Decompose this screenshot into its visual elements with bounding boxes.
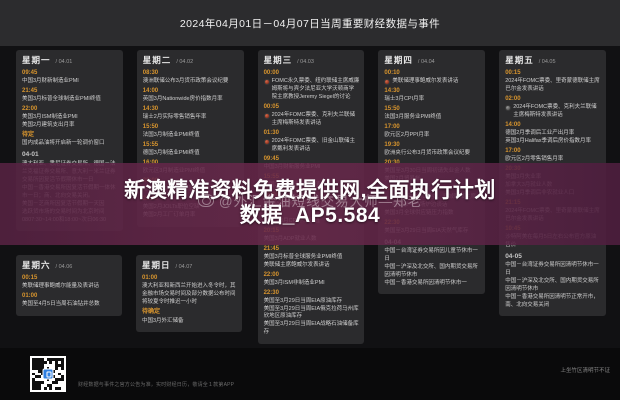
event-desc: 英国3月Nationwide房价指数月率 xyxy=(143,96,239,104)
event-time: 01:00 xyxy=(22,292,117,301)
event-desc: 瑞士3月CPI月率 xyxy=(384,96,480,104)
date-separator: 04-01 xyxy=(22,149,118,161)
event-desc: 瑞士2月实际零售销售年率 xyxy=(143,114,239,122)
event-desc: 美国3月ISM非制造业PMI xyxy=(264,280,360,288)
event-item: 01:00 澳大利亚和新西兰开始进入冬令时，其金融市场交易时间及部分数据公布时间… xyxy=(142,274,237,307)
event-time: 14:30 xyxy=(384,87,480,96)
event-time: 21:45 xyxy=(22,87,118,96)
event-time: 00:15 xyxy=(22,274,117,283)
event-time: 14:00 xyxy=(143,87,239,96)
event-time: 22:00 xyxy=(264,271,360,280)
page-title: 2024年04月01日－04月07日当周重要财经数据与事件 xyxy=(180,16,440,31)
event-desc: 美国3月ISM制造业PMI xyxy=(22,114,118,122)
event-desc: 美国至3月29日当周EIA原油库存 xyxy=(264,298,360,306)
event-desc: 中国3月外汇储备 xyxy=(142,318,237,326)
day-header: 星期日 / 04.07 xyxy=(142,259,237,271)
event-desc: 欧洲央行公布3月货币政策会议纪要 xyxy=(384,150,480,158)
event-time: 00:10 xyxy=(384,69,480,78)
event-time: 22:30 xyxy=(264,289,360,298)
day-note: 中国－沪深及北交所、国内期货交易所因清明节休市 xyxy=(505,278,601,294)
event-desc: 美联储理事鲍威尔能量及表讲话 xyxy=(22,283,117,291)
event-time: 01:30 xyxy=(264,129,360,138)
event-item: 19:30 欧洲央行公布3月货币政策会议纪要 xyxy=(384,141,480,158)
event-desc-text: 美联储理事鲍威尔发表讲话 xyxy=(392,78,458,86)
event-time: 15:55 xyxy=(143,141,239,150)
event-desc: 国内成品油将开启新一轮调价窗口 xyxy=(22,140,118,148)
event-time: 17:00 xyxy=(384,123,480,132)
event-desc: 德国2月季调后工业产出月率 xyxy=(505,130,601,138)
event-item: 17:00 欧元区2月PPI月率 xyxy=(384,123,480,140)
event-desc: 美国3月标普全球制造业PMI终值 xyxy=(22,96,118,104)
pending-label: 待确定 xyxy=(142,308,237,318)
day-note: 中国－台湾证券交易所因清明节休市一日 xyxy=(505,262,601,278)
event-item: 22:30 美国至3月29日当周EIA原油库存 美国至3月29日当周EIA俄克拉… xyxy=(264,289,360,338)
day-date: / 04.07 xyxy=(176,264,193,270)
event-desc: 法国3月制造业PMI终值 xyxy=(143,132,239,140)
qr-code-icon[interactable] xyxy=(30,356,66,392)
event-time: 14:30 xyxy=(143,105,239,114)
speaker-avatar-icon xyxy=(264,113,270,119)
event-time: 00:00 xyxy=(264,69,360,78)
day-date: / 04.02 xyxy=(176,59,193,65)
footer-bar: 财经数据与事件之官方公告为准，实时财经日历，敬请全１款第APP xyxy=(0,348,620,400)
event-item: 00:00 FOMC永久票委、纽约联储主席威廉姆斯将与宾夕法尼亚大学沃顿商学院主… xyxy=(264,69,360,102)
day-note: 中国－香港交易所因清明节正常开市，南、北向交易关闭 xyxy=(505,294,601,310)
event-time: 08:30 xyxy=(143,69,239,78)
event-desc: 美联储主席鲍威尔发表讲话 xyxy=(264,262,360,270)
event-item: 01:00 美国至4月5日当周石油钻井总数 xyxy=(22,292,117,309)
event-desc: 美联储理事鲍威尔发表讲话 xyxy=(384,78,480,86)
event-item: 14:00 德国2月季调后工业产出月率 英国3月Halifax季调后房价指数月率 xyxy=(505,121,601,146)
day-name: 星期二 xyxy=(143,54,172,66)
event-desc-text: 2024年FOMC票委、克利夫兰联储主席梅斯特发表讲话 xyxy=(513,104,601,120)
day-name: 星期四 xyxy=(384,54,413,66)
speaker-avatar-icon xyxy=(384,79,390,85)
speaker-avatar-icon xyxy=(505,105,511,111)
event-desc: 法国3月服务业PMI终值 xyxy=(384,114,480,122)
event-desc: 英国3月Halifax季调后房价指数月率 xyxy=(505,138,601,146)
event-time: 09:45 xyxy=(22,69,118,78)
event-desc-text: FOMC永久票委、纽约联储主席威廉姆斯将与宾夕法尼亚大学沃顿商学院主席教授Jer… xyxy=(272,78,360,102)
day-date: / 04.06 xyxy=(56,264,73,270)
day-name: 星期五 xyxy=(505,54,534,66)
event-item: 00:10 美联储理事鲍威尔发表讲话 xyxy=(384,69,480,86)
event-desc-text: 2024年FOMC票委、旧金山联储主席戴利发表讲话 xyxy=(272,138,360,154)
event-item: 22:00 美国3月ISM非制造业PMI xyxy=(264,271,360,288)
event-desc-text: 2024年FOMC票委、克利夫兰联储主席梅斯特发表讲话 xyxy=(272,112,360,128)
day-date: / 04.05 xyxy=(539,59,556,65)
event-item-pending: 待确定 中国3月外汇储备 xyxy=(142,308,237,326)
day-header: 星期一 / 04.01 xyxy=(22,54,118,66)
event-item: 14:30 瑞士2月实际零售销售年率 xyxy=(143,105,239,122)
event-time: 17:00 xyxy=(505,147,601,156)
event-desc: 2024年FOMC票委、里奇蒙德联储主席巴尔金发表讲话 xyxy=(505,78,601,94)
overlay-banner: 新澳精准资料免费提供网,全面执行计划 数据_AP5.584 xyxy=(0,163,620,245)
day-date: / 04.03 xyxy=(297,59,314,65)
event-desc: 欧元区2月PPI月率 xyxy=(384,132,480,140)
event-desc: 2024年FOMC票委、旧金山联储主席戴利发表讲话 xyxy=(264,138,360,154)
event-item: 01:30 2024年FOMC票委、旧金山联储主席戴利发表讲话 xyxy=(264,129,360,154)
day-date: / 04.04 xyxy=(418,59,435,65)
weekend-row: 星期六 / 04.06 00:15 美联储理事鲍威尔能量及表讲话 01:00 美… xyxy=(8,255,248,337)
event-time: 14:00 xyxy=(505,121,601,130)
event-item: 14:30 瑞士3月CPI月率 xyxy=(384,87,480,104)
event-desc: 德国3月制造业PMI终值 xyxy=(143,150,239,158)
day-header: 星期二 / 04.02 xyxy=(143,54,239,66)
event-item: 08:30 澳洲联储公布3月货币政策会议纪要 xyxy=(143,69,239,86)
event-desc: 美国至3月29日当周EIA战略石油储备库存 xyxy=(264,321,360,337)
day-column-sunday: 星期日 / 04.07 01:00 澳大利亚和新西兰开始进入冬令时，其金融市场交… xyxy=(128,255,248,337)
day-header: 星期四 / 04.04 xyxy=(384,54,480,66)
event-desc: 美国至3月29日当周EIA俄克拉荷马州库欣地区原油库存 xyxy=(264,306,360,322)
event-item: 17:00 欧元区2月零售销售月率 xyxy=(505,147,601,164)
event-desc: 2024年FOMC票委、克利夫兰联储主席梅斯特发表讲话 xyxy=(264,112,360,128)
event-time: 21:45 xyxy=(264,245,360,254)
event-time: 01:00 xyxy=(142,274,237,283)
event-time: 00:05 xyxy=(264,103,360,112)
overlay-title-line1: 新澳精准资料免费提供网,全面执行计划 xyxy=(124,179,496,204)
day-card[interactable]: 星期日 / 04.07 01:00 澳大利亚和新西兰开始进入冬令时，其金融市场交… xyxy=(136,255,242,332)
event-desc: 中国3月财新制造业PMI xyxy=(22,78,118,86)
speaker-avatar-icon xyxy=(264,139,270,145)
title-bar: 2024年04月01日－04月07日当周重要财经数据与事件 xyxy=(0,0,620,46)
day-note: 中国－香港交易所因清明节休市一 xyxy=(384,280,480,288)
date-separator: 04-05 xyxy=(505,251,601,263)
day-name: 星期六 xyxy=(22,259,51,271)
qr-center-logo-icon xyxy=(43,369,54,380)
event-time: 15:50 xyxy=(143,123,239,132)
event-item: 14:00 英国3月Nationwide房价指数月率 xyxy=(143,87,239,104)
financial-calendar-screenshot: 2024年04月01日－04月07日当周重要财经数据与事件 星期一 / 04.0… xyxy=(0,0,620,400)
event-item: 00:15 美联储理事鲍威尔能量及表讲话 xyxy=(22,274,117,291)
event-desc: FOMC永久票委、纽约联储主席威廉姆斯将与宾夕法尼亚大学沃顿商学院主席教授Jer… xyxy=(264,78,360,102)
event-time: 02:00 xyxy=(505,95,601,104)
event-item: 15:55 德国3月制造业PMI终值 xyxy=(143,141,239,158)
speaker-avatar-icon xyxy=(264,79,270,85)
event-desc: 澳大利亚和新西兰开始进入冬令时，其金融市场交易时间及部分数据公布时间将较夏令时推… xyxy=(142,283,237,307)
event-item: 02:00 2024年FOMC票委、克利夫兰联储主席梅斯特发表讲话 xyxy=(505,95,601,120)
day-header: 星期三 / 04.03 xyxy=(264,54,360,66)
event-item: 00:15 2024年FOMC票委、里奇蒙德联储主席巴尔金发表讲话 xyxy=(505,69,601,94)
footer-note: 财经数据与事件之官方公告为准，实时财经日历，敬请全１款第APP xyxy=(78,381,234,388)
qr-module xyxy=(61,387,64,390)
day-header: 星期六 / 04.06 xyxy=(22,259,117,271)
event-item-pending: 待定 国内成品油将开启新一轮调价窗口 xyxy=(22,131,118,149)
day-name: 星期日 xyxy=(142,259,171,271)
overlay-title-line2: 数据_AP5.584 xyxy=(240,204,380,229)
footer-right-note: 上坐竹区清明节不证 xyxy=(560,366,610,374)
day-note: 中国－沪深及北交所、国内期货交易所因清明节休市 xyxy=(384,264,480,280)
event-desc: 美国至4月5日当周石油钻井总数 xyxy=(22,301,117,309)
event-time: 00:15 xyxy=(505,69,601,78)
event-desc: 2024年FOMC票委、克利夫兰联储主席梅斯特发表讲话 xyxy=(505,104,601,120)
event-time: 15:50 xyxy=(384,105,480,114)
day-date: / 04.01 xyxy=(56,59,73,65)
day-header: 星期五 / 04.05 xyxy=(505,54,601,66)
day-name: 星期一 xyxy=(22,54,51,66)
event-item: 15:50 法国3月服务业PMI终值 xyxy=(384,105,480,122)
event-time: 19:30 xyxy=(384,141,480,150)
event-item: 21:45 美国3月标普全球服务业PMI终值 美联储主席鲍威尔发表讲话 xyxy=(264,245,360,270)
event-item: 00:05 2024年FOMC票委、克利夫兰联储主席梅斯特发表讲话 xyxy=(264,103,360,128)
event-item: 15:50 法国3月制造业PMI终值 xyxy=(143,123,239,140)
day-card[interactable]: 星期六 / 04.06 00:15 美联储理事鲍威尔能量及表讲话 01:00 美… xyxy=(16,255,122,316)
event-desc: 美国2月建筑支出月率 xyxy=(22,122,118,130)
event-item: 22:00 美国3月ISM制造业PMI 美国2月建筑支出月率 xyxy=(22,105,118,130)
event-item: 09:45 中国3月财新制造业PMI xyxy=(22,69,118,86)
day-note: 中国－台湾证券交易所因儿童节休市一日 xyxy=(384,248,480,264)
event-desc: 美国3月标普全球服务业PMI终值 xyxy=(264,254,360,262)
event-desc: 澳洲联储公布3月货币政策会议纪要 xyxy=(143,78,239,86)
day-column-saturday: 星期六 / 04.06 00:15 美联储理事鲍威尔能量及表讲话 01:00 美… xyxy=(8,255,128,337)
event-time: 22:00 xyxy=(22,105,118,114)
event-item: 21:45 美国3月标普全球制造业PMI终值 xyxy=(22,87,118,104)
day-name: 星期三 xyxy=(264,54,293,66)
